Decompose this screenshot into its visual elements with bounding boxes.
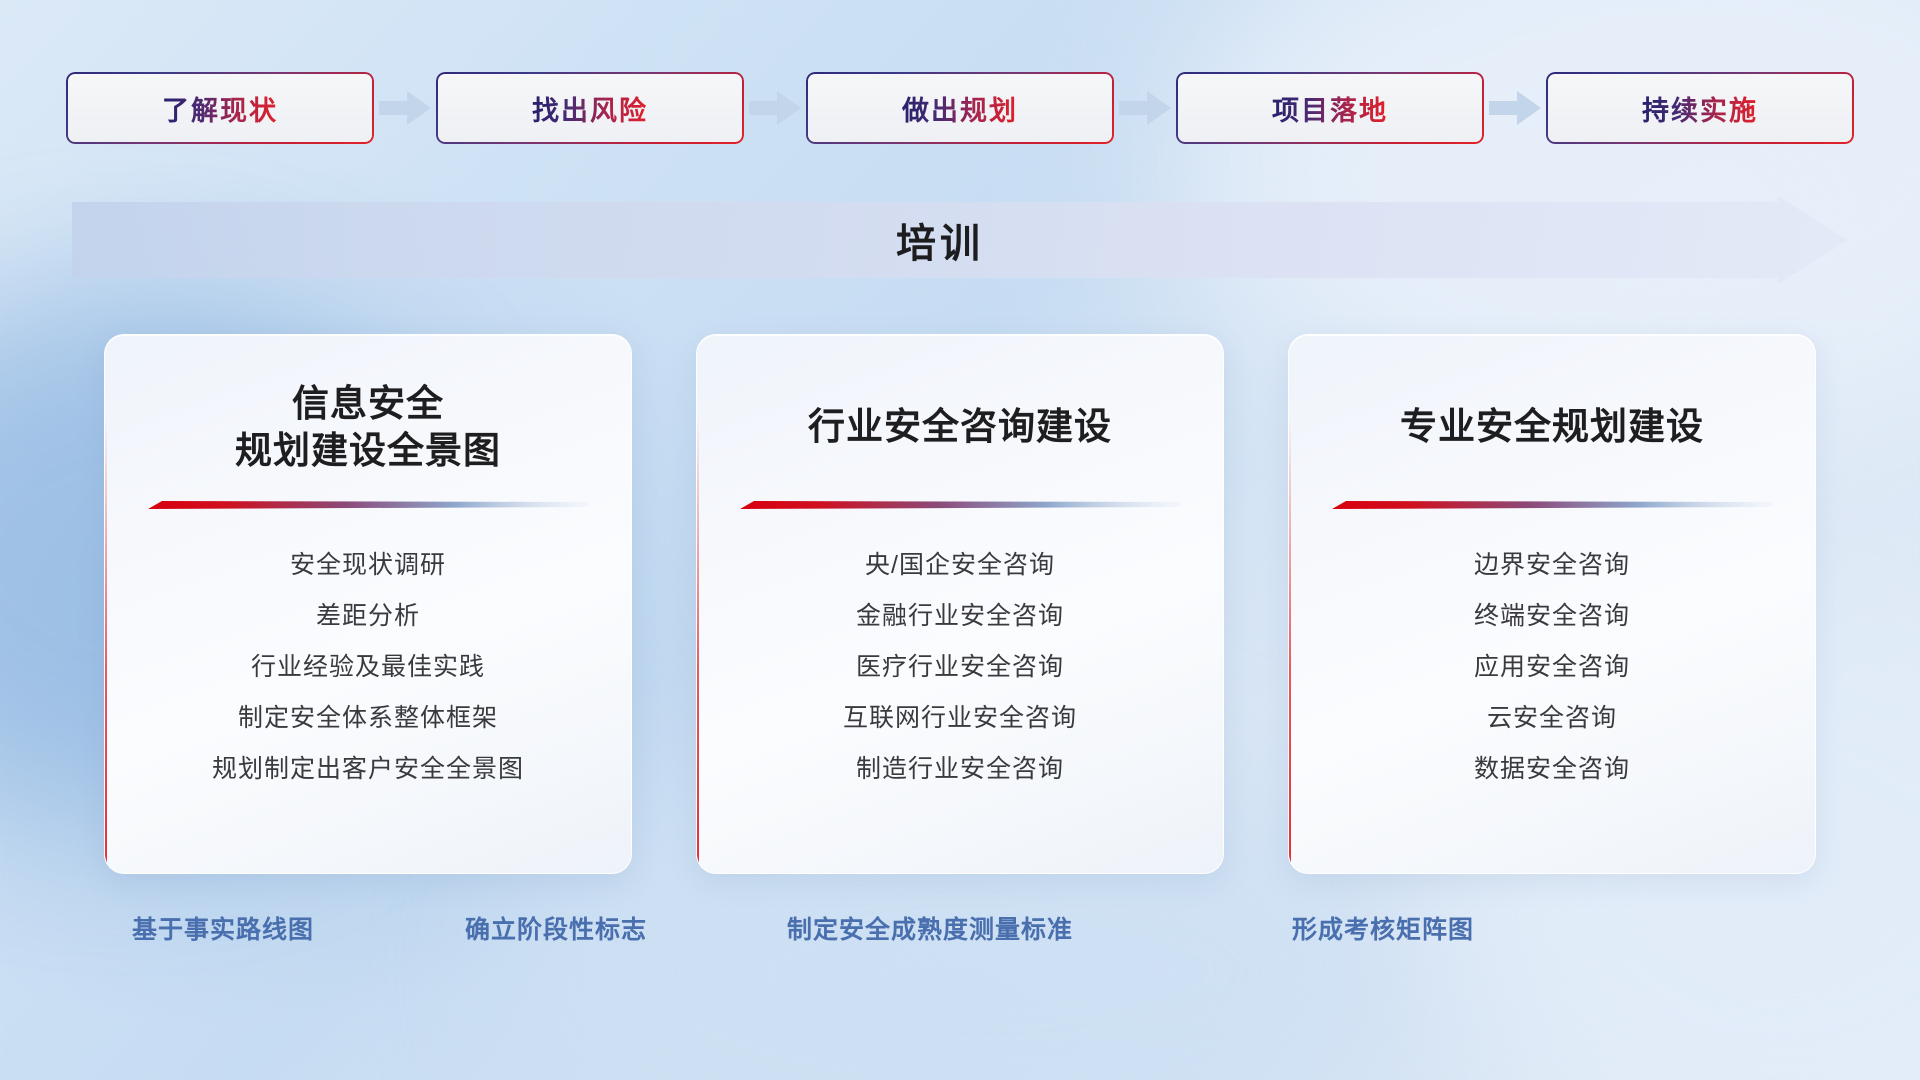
arrow-right-icon [1114, 88, 1176, 128]
card-item-list: 边界安全咨询 终端安全咨询 应用安全咨询 云安全咨询 数据安全咨询 [1319, 544, 1785, 791]
step-box-5[interactable]: 持续实施 [1546, 72, 1854, 144]
step-box-4[interactable]: 项目落地 [1176, 72, 1484, 144]
list-item: 金融行业安全咨询 [856, 595, 1064, 638]
card-divider [740, 501, 1180, 510]
card-divider [148, 501, 588, 510]
footer-label: 确立阶段性标志 [465, 910, 647, 946]
list-item: 央/国企安全咨询 [865, 544, 1055, 587]
training-banner: 培训 [72, 196, 1848, 284]
list-item: 安全现状调研 [290, 544, 446, 587]
list-item: 规划制定出客户安全全景图 [212, 748, 524, 791]
step-label: 做出规划 [902, 89, 1018, 128]
card-industry-security-consulting[interactable]: 行业安全咨询建设 央/国企安全咨询 金融行业安全咨询 医疗行业安全咨询 互联网行… [696, 334, 1224, 874]
card-title: 行业安全咨询建设 [808, 379, 1112, 475]
arrow-right-icon [1484, 88, 1546, 128]
step-label: 找出风险 [532, 89, 648, 128]
card-title-line: 行业安全咨询建设 [808, 403, 1112, 450]
footer-label: 基于事实路线图 [132, 910, 314, 946]
card-title-line: 信息安全 [235, 380, 501, 427]
card-row: 信息安全 规划建设全景图 安全现状调研 差距分析 行业经验及最佳实践 制定安全体… [0, 334, 1920, 874]
step-label: 项目落地 [1272, 89, 1388, 128]
footer-label: 形成考核矩阵图 [1292, 910, 1474, 946]
banner-title: 培训 [72, 196, 1848, 284]
card-title: 信息安全 规划建设全景图 [235, 379, 501, 475]
list-item: 制定安全体系整体框架 [238, 697, 498, 740]
card-information-security-blueprint[interactable]: 信息安全 规划建设全景图 安全现状调研 差距分析 行业经验及最佳实践 制定安全体… [104, 334, 632, 874]
process-step-row: 了解现状 找出风险 做出规划 项目落地 持续实施 [0, 72, 1920, 144]
arrow-right-icon [744, 88, 806, 128]
list-item: 互联网行业安全咨询 [843, 697, 1077, 740]
step-label: 了解现状 [162, 89, 278, 128]
card-title: 专业安全规划建设 [1400, 379, 1704, 475]
list-item: 终端安全咨询 [1474, 595, 1630, 638]
list-item: 应用安全咨询 [1474, 646, 1630, 689]
list-item: 行业经验及最佳实践 [251, 646, 485, 689]
step-box-1[interactable]: 了解现状 [66, 72, 374, 144]
step-box-3[interactable]: 做出规划 [806, 72, 1114, 144]
card-title-line: 专业安全规划建设 [1400, 403, 1704, 450]
list-item: 边界安全咨询 [1474, 544, 1630, 587]
step-label: 持续实施 [1642, 89, 1758, 128]
footer-label: 制定安全成熟度测量标准 [787, 910, 1073, 946]
card-divider [1332, 501, 1772, 510]
arrow-right-icon [374, 88, 436, 128]
card-item-list: 安全现状调研 差距分析 行业经验及最佳实践 制定安全体系整体框架 规划制定出客户… [135, 544, 601, 791]
list-item: 差距分析 [316, 595, 420, 638]
step-box-2[interactable]: 找出风险 [436, 72, 744, 144]
list-item: 制造行业安全咨询 [856, 748, 1064, 791]
list-item: 数据安全咨询 [1474, 748, 1630, 791]
footer-label-row: 基于事实路线图 确立阶段性标志 制定安全成熟度测量标准 形成考核矩阵图 [0, 910, 1920, 960]
list-item: 云安全咨询 [1487, 697, 1617, 740]
card-professional-security-planning[interactable]: 专业安全规划建设 边界安全咨询 终端安全咨询 应用安全咨询 云安全咨询 数据安全… [1288, 334, 1816, 874]
card-item-list: 央/国企安全咨询 金融行业安全咨询 医疗行业安全咨询 互联网行业安全咨询 制造行… [727, 544, 1193, 791]
card-title-line: 规划建设全景图 [235, 427, 501, 474]
list-item: 医疗行业安全咨询 [856, 646, 1064, 689]
